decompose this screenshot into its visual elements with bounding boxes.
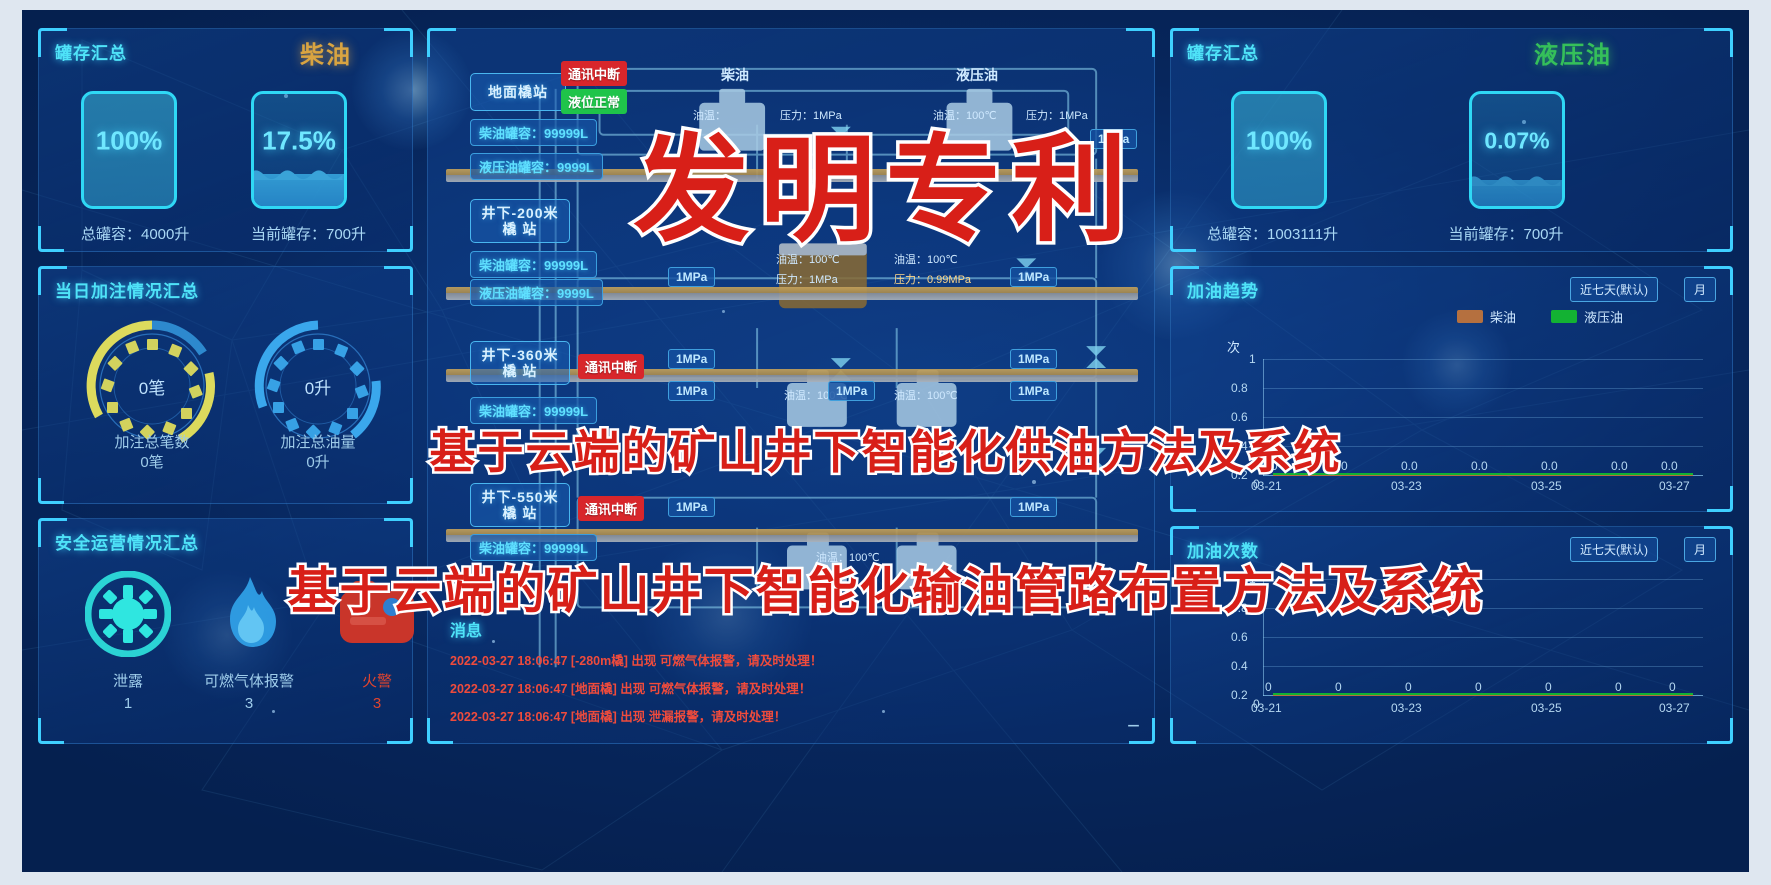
safety-label: 可燃气体报警 (184, 670, 314, 691)
safety-value: 3 (184, 695, 314, 712)
y-tick: 0.8 (1231, 381, 1248, 395)
point-label: 0.0 (1401, 459, 1418, 473)
x-tick: 03-21 (1251, 701, 1282, 715)
watermark-line-2: 基于云端的矿山井下智能化输油管路布置方法及系统 (288, 551, 1484, 623)
panel-title: 罐存汇总 (55, 39, 127, 64)
x-tick: 03-23 (1391, 701, 1422, 715)
point-label: 0 (1615, 680, 1622, 694)
panel-title: 当日加注情况汇总 (55, 277, 199, 302)
readout-pressure: 压力：1MPa (776, 271, 838, 287)
watermark-main: 发明专利 (634, 96, 1138, 264)
safety-value: 3 (322, 695, 432, 712)
y-axis-unit: 次 (1227, 337, 1240, 356)
panel-title: 加油趋势 (1187, 277, 1259, 302)
current-stock-tank: 17.5% 当前罐存：700升 (251, 91, 366, 244)
station-label-360m[interactable]: 井下-360米 橇 站 (470, 341, 570, 385)
safety-item-leak: 泄露 1 (73, 571, 183, 712)
pressure-tag: 1MPa (828, 381, 875, 401)
gear-icon (85, 571, 171, 657)
point-label: 0 (1405, 680, 1412, 694)
status-badge-level: 液位正常 (561, 89, 627, 114)
refuel-count-caption: 加注总笔数 0笔 (67, 433, 237, 474)
wave-icon (251, 166, 344, 180)
point-label: 0.0 (1661, 459, 1678, 473)
pressure-tag: 1MPa (1010, 267, 1057, 287)
caption-line-1: 加注总笔数 (67, 433, 237, 453)
tank-percent: 100% (84, 126, 174, 157)
station-label-550m[interactable]: 井下-550米 橇 站 (470, 483, 570, 527)
y-tick: 0.6 (1231, 630, 1248, 644)
legend-swatch (1457, 310, 1483, 323)
tank-percent: 17.5% (254, 126, 344, 157)
oil-type-label: 液压油 (1534, 35, 1612, 70)
point-label: 0 (1475, 680, 1482, 694)
pressure-tag: 1MPa (668, 381, 715, 401)
pressure-tag: 1MPa (668, 267, 715, 287)
range-week-button[interactable]: 近七天(默认) (1570, 277, 1658, 302)
point-label: 0 (1669, 680, 1676, 694)
left-tank-summary-panel: 罐存汇总 柴油 100% 总罐容：4000升 17.5% 当前罐存：70 (38, 28, 413, 252)
legend-label: 柴油 (1490, 307, 1516, 326)
station-diesel-capacity: 柴油罐容：99999L (470, 251, 597, 278)
pressure-tag: 1MPa (668, 349, 715, 369)
point-label: 0 (1265, 680, 1272, 694)
x-tick: 03-25 (1531, 479, 1562, 493)
tank-caption: 当前罐存：700升 (251, 223, 366, 244)
pressure-tag: 1MPa (668, 497, 715, 517)
caption-line-2: 0笔 (67, 453, 237, 473)
x-tick: 03-23 (1391, 479, 1422, 493)
tank-percent: 0.07% (1472, 128, 1562, 155)
y-tick: 0.2 (1231, 688, 1248, 702)
tank-caption: 总罐容：4000升 (81, 223, 189, 244)
tank-caption: 当前罐存：700升 (1447, 223, 1565, 244)
tank-percent: 100% (1234, 126, 1324, 157)
message-line: 2022-03-27 18:06:47 [地面橇] 出现 泄漏报警，请及时处理！ (450, 706, 1130, 725)
station-hydraulic-capacity: 液压油罐容：9999L (470, 153, 603, 180)
point-label: 0.0 (1541, 459, 1558, 473)
current-stock-tank: 0.07% 当前罐存：700升 (1469, 91, 1565, 244)
station-label-200m[interactable]: 井下-200米 橇 站 (470, 199, 570, 243)
y-tick: 0.4 (1231, 659, 1248, 673)
wave-icon (1469, 172, 1562, 186)
point-label: 0 (1335, 680, 1342, 694)
total-capacity-tank: 100% 总罐容：4000升 (81, 91, 189, 244)
station-hydraulic-capacity: 液压油罐容：9999L (470, 279, 603, 306)
pressure-tag: 1MPa (1010, 381, 1057, 401)
station-label-surface[interactable]: 地面橇站 (470, 73, 566, 111)
y-tick: 1 (1249, 352, 1256, 366)
station-diesel-capacity: 柴油罐容：99999L (470, 119, 597, 146)
legend-item-hydraulic[interactable]: 液压油 (1551, 307, 1623, 326)
refuel-volume-caption: 加注总油量 0升 (233, 433, 403, 474)
readout-oil-temp: 油温：100℃ (894, 387, 958, 403)
total-capacity-tank: 100% 总罐容：1003111升 (1231, 91, 1338, 244)
tank-caption: 总罐容：1003111升 (1207, 223, 1338, 244)
status-badge-comm: 通讯中断 (561, 61, 627, 86)
zoom-out-button[interactable]: − (1127, 713, 1140, 739)
legend-swatch (1551, 310, 1577, 323)
x-tick: 03-25 (1531, 701, 1562, 715)
safety-label: 泄露 (73, 670, 183, 691)
x-tick: 03-27 (1659, 701, 1690, 715)
caption-line-1: 加注总油量 (233, 433, 403, 453)
readout-pressure: 压力：0.99MPa (894, 271, 971, 287)
flame-icon (206, 571, 292, 657)
legend-item-diesel[interactable]: 柴油 (1457, 307, 1516, 326)
left-refuel-today-panel: 当日加注情况汇总 (38, 266, 413, 504)
legend-label: 液压油 (1584, 307, 1623, 326)
tank-group-title-hydraulic: 液压油 (956, 65, 998, 85)
right-tank-summary-panel: 罐存汇总 液压油 100% 总罐容：1003111升 0.07% 当前罐 (1170, 28, 1733, 252)
safety-value: 1 (73, 695, 183, 712)
pressure-tag: 1MPa (1010, 349, 1057, 369)
x-tick: 03-27 (1659, 479, 1690, 493)
pressure-tag: 1MPa (1010, 497, 1057, 517)
panel-title: 罐存汇总 (1187, 39, 1259, 64)
range-month-button[interactable]: 月 (1684, 277, 1716, 302)
dashboard-screen: 罐存汇总 柴油 100% 总罐容：4000升 17.5% 当前罐存：70 (0, 0, 1771, 885)
tank-group-title-diesel: 柴油 (721, 65, 749, 85)
point-label: 0 (1545, 680, 1552, 694)
safety-label: 火警 (322, 670, 432, 691)
status-badge-comm: 通讯中断 (578, 496, 644, 521)
range-week-button[interactable]: 近七天(默认) (1570, 537, 1658, 562)
caption-line-2: 0升 (233, 453, 403, 473)
watermark-line-1: 基于云端的矿山井下智能化供油方法及系统 (430, 416, 1342, 482)
point-label: 0.0 (1611, 459, 1628, 473)
point-label: 0.0 (1471, 459, 1488, 473)
status-badge-comm: 通讯中断 (578, 354, 644, 379)
message-log: 消息 2022-03-27 18:06:47 [-280m橇] 出现 可燃气体报… (450, 617, 1130, 725)
dashboard-board: 罐存汇总 柴油 100% 总罐容：4000升 17.5% 当前罐存：70 (22, 10, 1749, 872)
message-line: 2022-03-27 18:06:47 [地面橇] 出现 可燃气体报警，请及时处… (450, 678, 1130, 697)
panel-title: 安全运营情况汇总 (55, 529, 199, 554)
range-month-button[interactable]: 月 (1684, 537, 1716, 562)
oil-type-label: 柴油 (300, 35, 352, 70)
message-line: 2022-03-27 18:06:47 [-280m橇] 出现 可燃气体报警，请… (450, 650, 1130, 669)
